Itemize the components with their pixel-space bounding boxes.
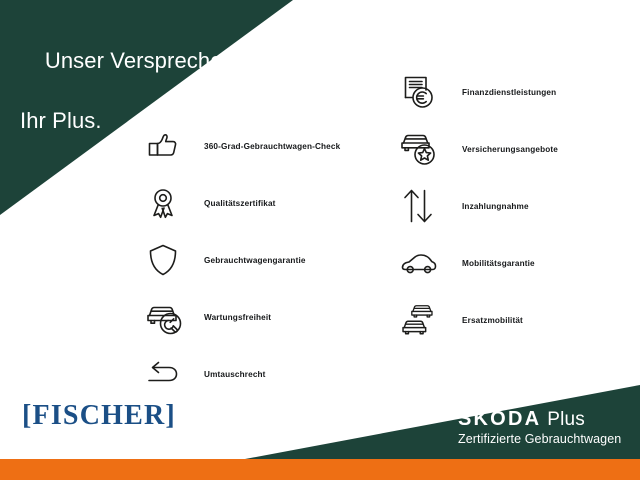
document-euro-icon	[400, 67, 452, 117]
feature-item: Qualitätszertifikat	[145, 177, 340, 229]
car-wrench-icon	[145, 292, 197, 342]
feature-item: Ersatzmobilität	[400, 294, 558, 346]
feature-item: 360-Grad-Gebrauchtwagen-Check	[145, 120, 340, 172]
feature-item: Wartungsfreiheit	[145, 291, 340, 343]
orange-footer-bar	[0, 459, 640, 480]
skoda-subline: Zertifizierte Gebrauchtwagen	[458, 432, 621, 446]
feature-item: Inzahlungnahme	[400, 180, 558, 232]
feature-label: 360-Grad-Gebrauchtwagen-Check	[204, 142, 340, 151]
feature-label: Ersatzmobilität	[462, 316, 523, 325]
feature-list-right: Finanzdienstleistungen Versicherungsange…	[400, 66, 558, 351]
headline-line-1: Unser Versprechen.	[45, 48, 241, 73]
shield-icon	[145, 235, 197, 285]
feature-label: Wartungsfreiheit	[204, 313, 271, 322]
feature-label: Gebrauchtwagengarantie	[204, 256, 306, 265]
feature-label: Mobilitätsgarantie	[462, 259, 535, 268]
promo-banner: Unser Versprechen. Ihr Plus. 360-Grad-Ge…	[0, 0, 640, 480]
feature-item: Finanzdienstleistungen	[400, 66, 558, 118]
car-side-icon	[400, 238, 452, 288]
two-cars-icon	[400, 295, 452, 345]
feature-item: Mobilitätsgarantie	[400, 237, 558, 289]
thumbs-up-icon	[145, 121, 197, 171]
up-down-arrows-icon	[400, 181, 452, 231]
skoda-plus-word: Plus	[547, 409, 585, 431]
feature-item: Versicherungsangebote	[400, 123, 558, 175]
feature-item: Umtauschrecht	[145, 348, 340, 400]
feature-list-left: 360-Grad-Gebrauchtwagen-Check Qualitätsz…	[145, 120, 340, 405]
dealer-logo: [FISCHER]	[22, 400, 176, 432]
feature-label: Umtauschrecht	[204, 370, 266, 379]
feature-label: Versicherungsangebote	[462, 145, 558, 154]
quality-seal-icon	[145, 178, 197, 228]
skoda-wordmark: SKODA	[458, 408, 541, 431]
skoda-logo-row: SKODA Plus	[458, 408, 621, 431]
car-star-icon	[400, 124, 452, 174]
feature-label: Inzahlungnahme	[462, 202, 529, 211]
return-arrow-icon	[145, 349, 197, 399]
feature-item: Gebrauchtwagengarantie	[145, 234, 340, 286]
feature-label: Qualitätszertifikat	[204, 199, 276, 208]
feature-label: Finanzdienstleistungen	[462, 88, 556, 97]
skoda-plus-logo: SKODA Plus Zertifizierte Gebrauchtwagen	[458, 408, 621, 446]
